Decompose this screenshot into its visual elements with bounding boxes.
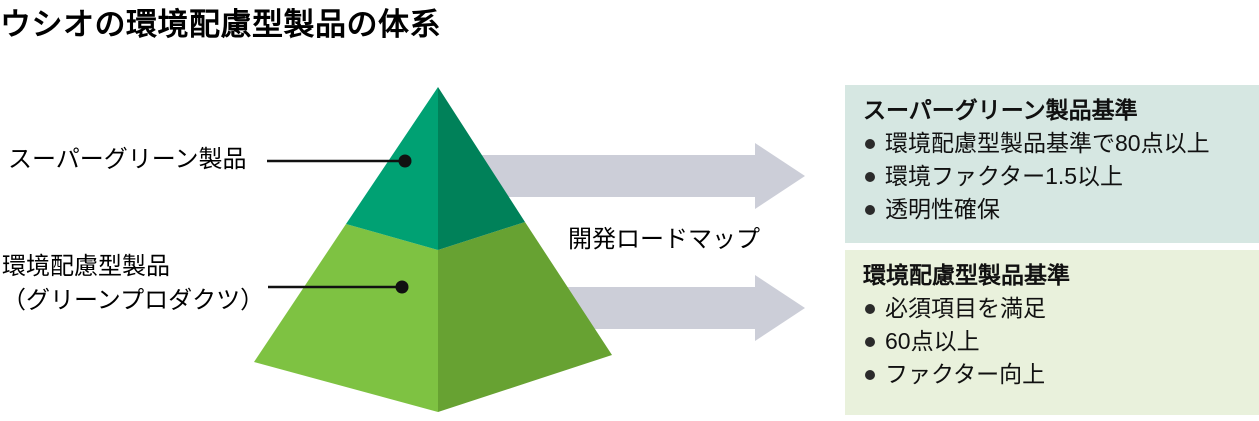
bullet-icon — [865, 139, 875, 149]
arrow-to-super-green-criteria — [470, 143, 805, 209]
list-item: 環境配慮型製品基準で80点以上 — [863, 127, 1259, 160]
green-product-criteria-list: 必須項目を満足 60点以上 ファクター向上 — [863, 292, 1259, 391]
list-item-label: 環境ファクター1.5以上 — [885, 163, 1123, 189]
list-item-label: 60点以上 — [885, 328, 980, 354]
diagram-canvas: ウシオの環境配慮型製品の体系 — [0, 0, 1259, 421]
list-item-label: 必須項目を満足 — [885, 295, 1046, 321]
bullet-icon — [865, 205, 875, 215]
bullet-icon — [865, 337, 875, 347]
label-super-green-product: スーパーグリーン製品 — [8, 143, 247, 177]
bullet-icon — [865, 304, 875, 314]
super-green-criteria-list: 環境配慮型製品基準で80点以上 環境ファクター1.5以上 透明性確保 — [863, 127, 1259, 226]
label-green-product-line1: 環境配慮型製品 — [2, 253, 170, 280]
super-green-criteria-box: スーパーグリーン製品基準 環境配慮型製品基準で80点以上 環境ファクター1.5以… — [845, 85, 1259, 243]
bullet-icon — [865, 370, 875, 380]
bullet-icon — [865, 172, 875, 182]
list-item: 透明性確保 — [863, 193, 1259, 226]
label-green-product-line2: （グリーンプロダクツ） — [2, 284, 264, 318]
label-green-product: 環境配慮型製品 （グリーンプロダクツ） — [2, 250, 264, 318]
list-item: ファクター向上 — [863, 358, 1259, 391]
green-product-criteria-title: 環境配慮型製品基準 — [863, 260, 1259, 291]
list-item: 60点以上 — [863, 325, 1259, 358]
super-green-criteria-title: スーパーグリーン製品基準 — [863, 95, 1259, 126]
list-item-label: 透明性確保 — [885, 196, 1000, 222]
green-product-criteria-box: 環境配慮型製品基準 必須項目を満足 60点以上 ファクター向上 — [845, 250, 1259, 415]
list-item-label: ファクター向上 — [885, 361, 1045, 387]
list-item: 必須項目を満足 — [863, 292, 1259, 325]
list-item: 環境ファクター1.5以上 — [863, 160, 1259, 193]
list-item-label: 環境配慮型製品基準で80点以上 — [885, 130, 1210, 156]
roadmap-caption: 開発ロードマップ — [568, 219, 760, 254]
pyramid-tier-green-product — [254, 222, 612, 412]
